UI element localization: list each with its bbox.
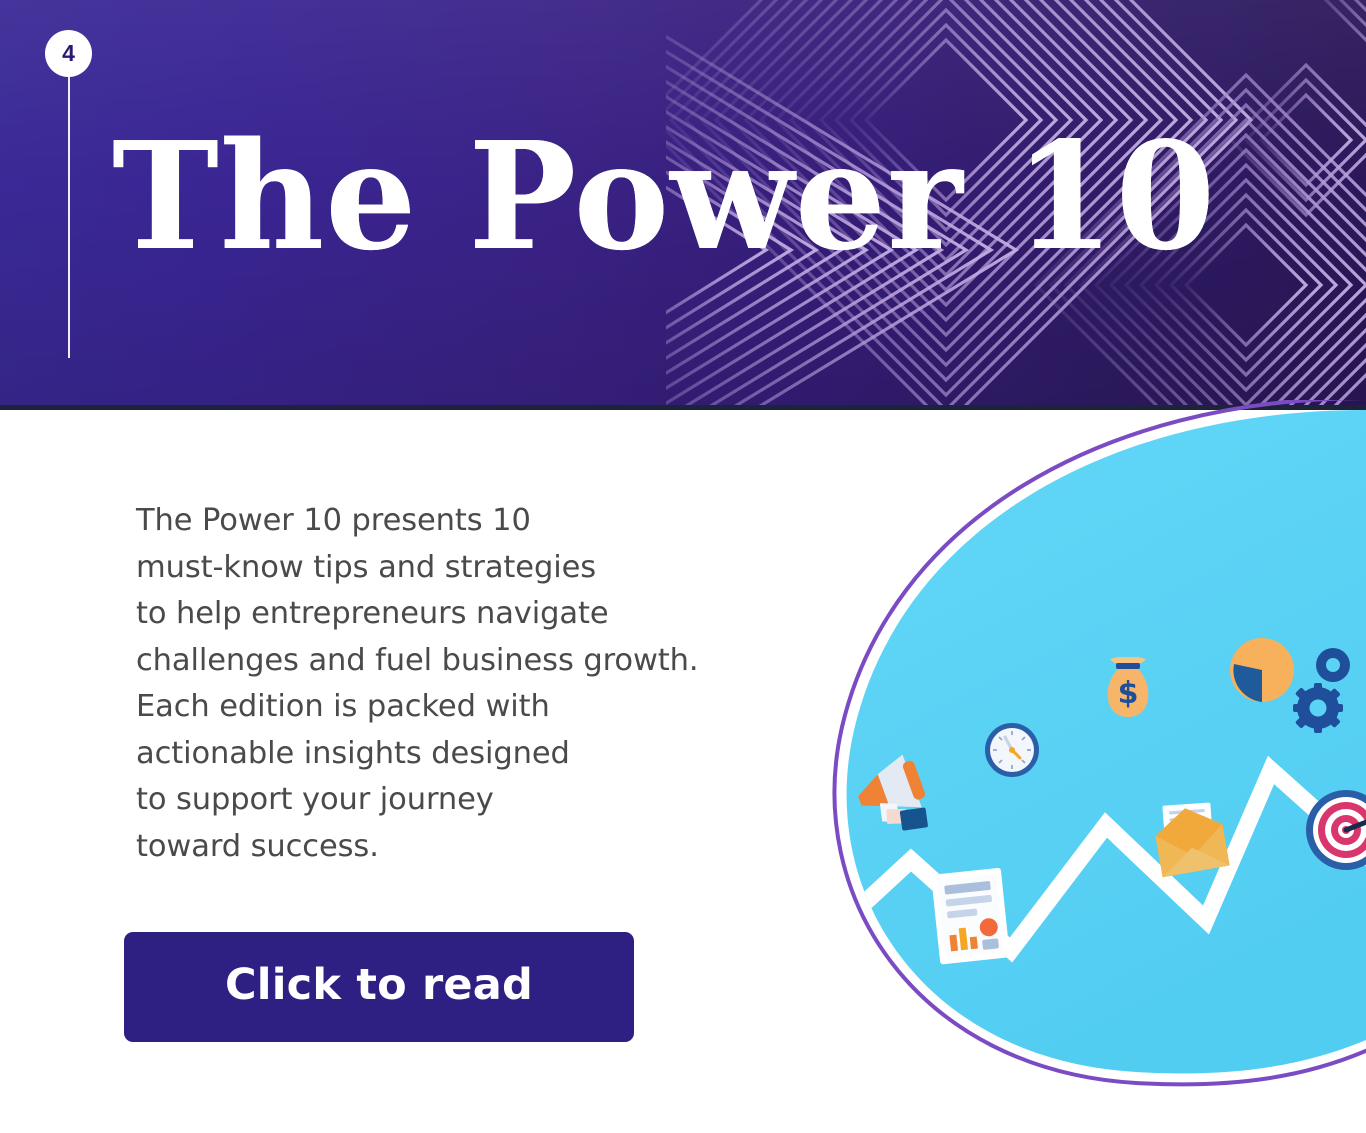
- business-growth-illustration: $: [806, 400, 1366, 1100]
- pie-chart-icon: [1230, 638, 1294, 702]
- newsletter-card: 4 The Power 10 The Power 10 presents 10 …: [0, 0, 1366, 1133]
- page-title: The Power 10: [112, 122, 1216, 270]
- header-banner: 4 The Power 10: [0, 0, 1366, 410]
- issue-number-badge: 4: [45, 30, 92, 77]
- report-icon: [931, 868, 1010, 965]
- intro-paragraph: The Power 10 presents 10 must-know tips …: [136, 498, 796, 870]
- click-to-read-button[interactable]: Click to read: [124, 932, 634, 1042]
- svg-text:$: $: [1118, 676, 1139, 711]
- clock-icon: [985, 723, 1039, 777]
- blob-shape: [847, 410, 1366, 1073]
- badge-pin-line: [68, 76, 70, 358]
- issue-number-label: 4: [62, 42, 75, 65]
